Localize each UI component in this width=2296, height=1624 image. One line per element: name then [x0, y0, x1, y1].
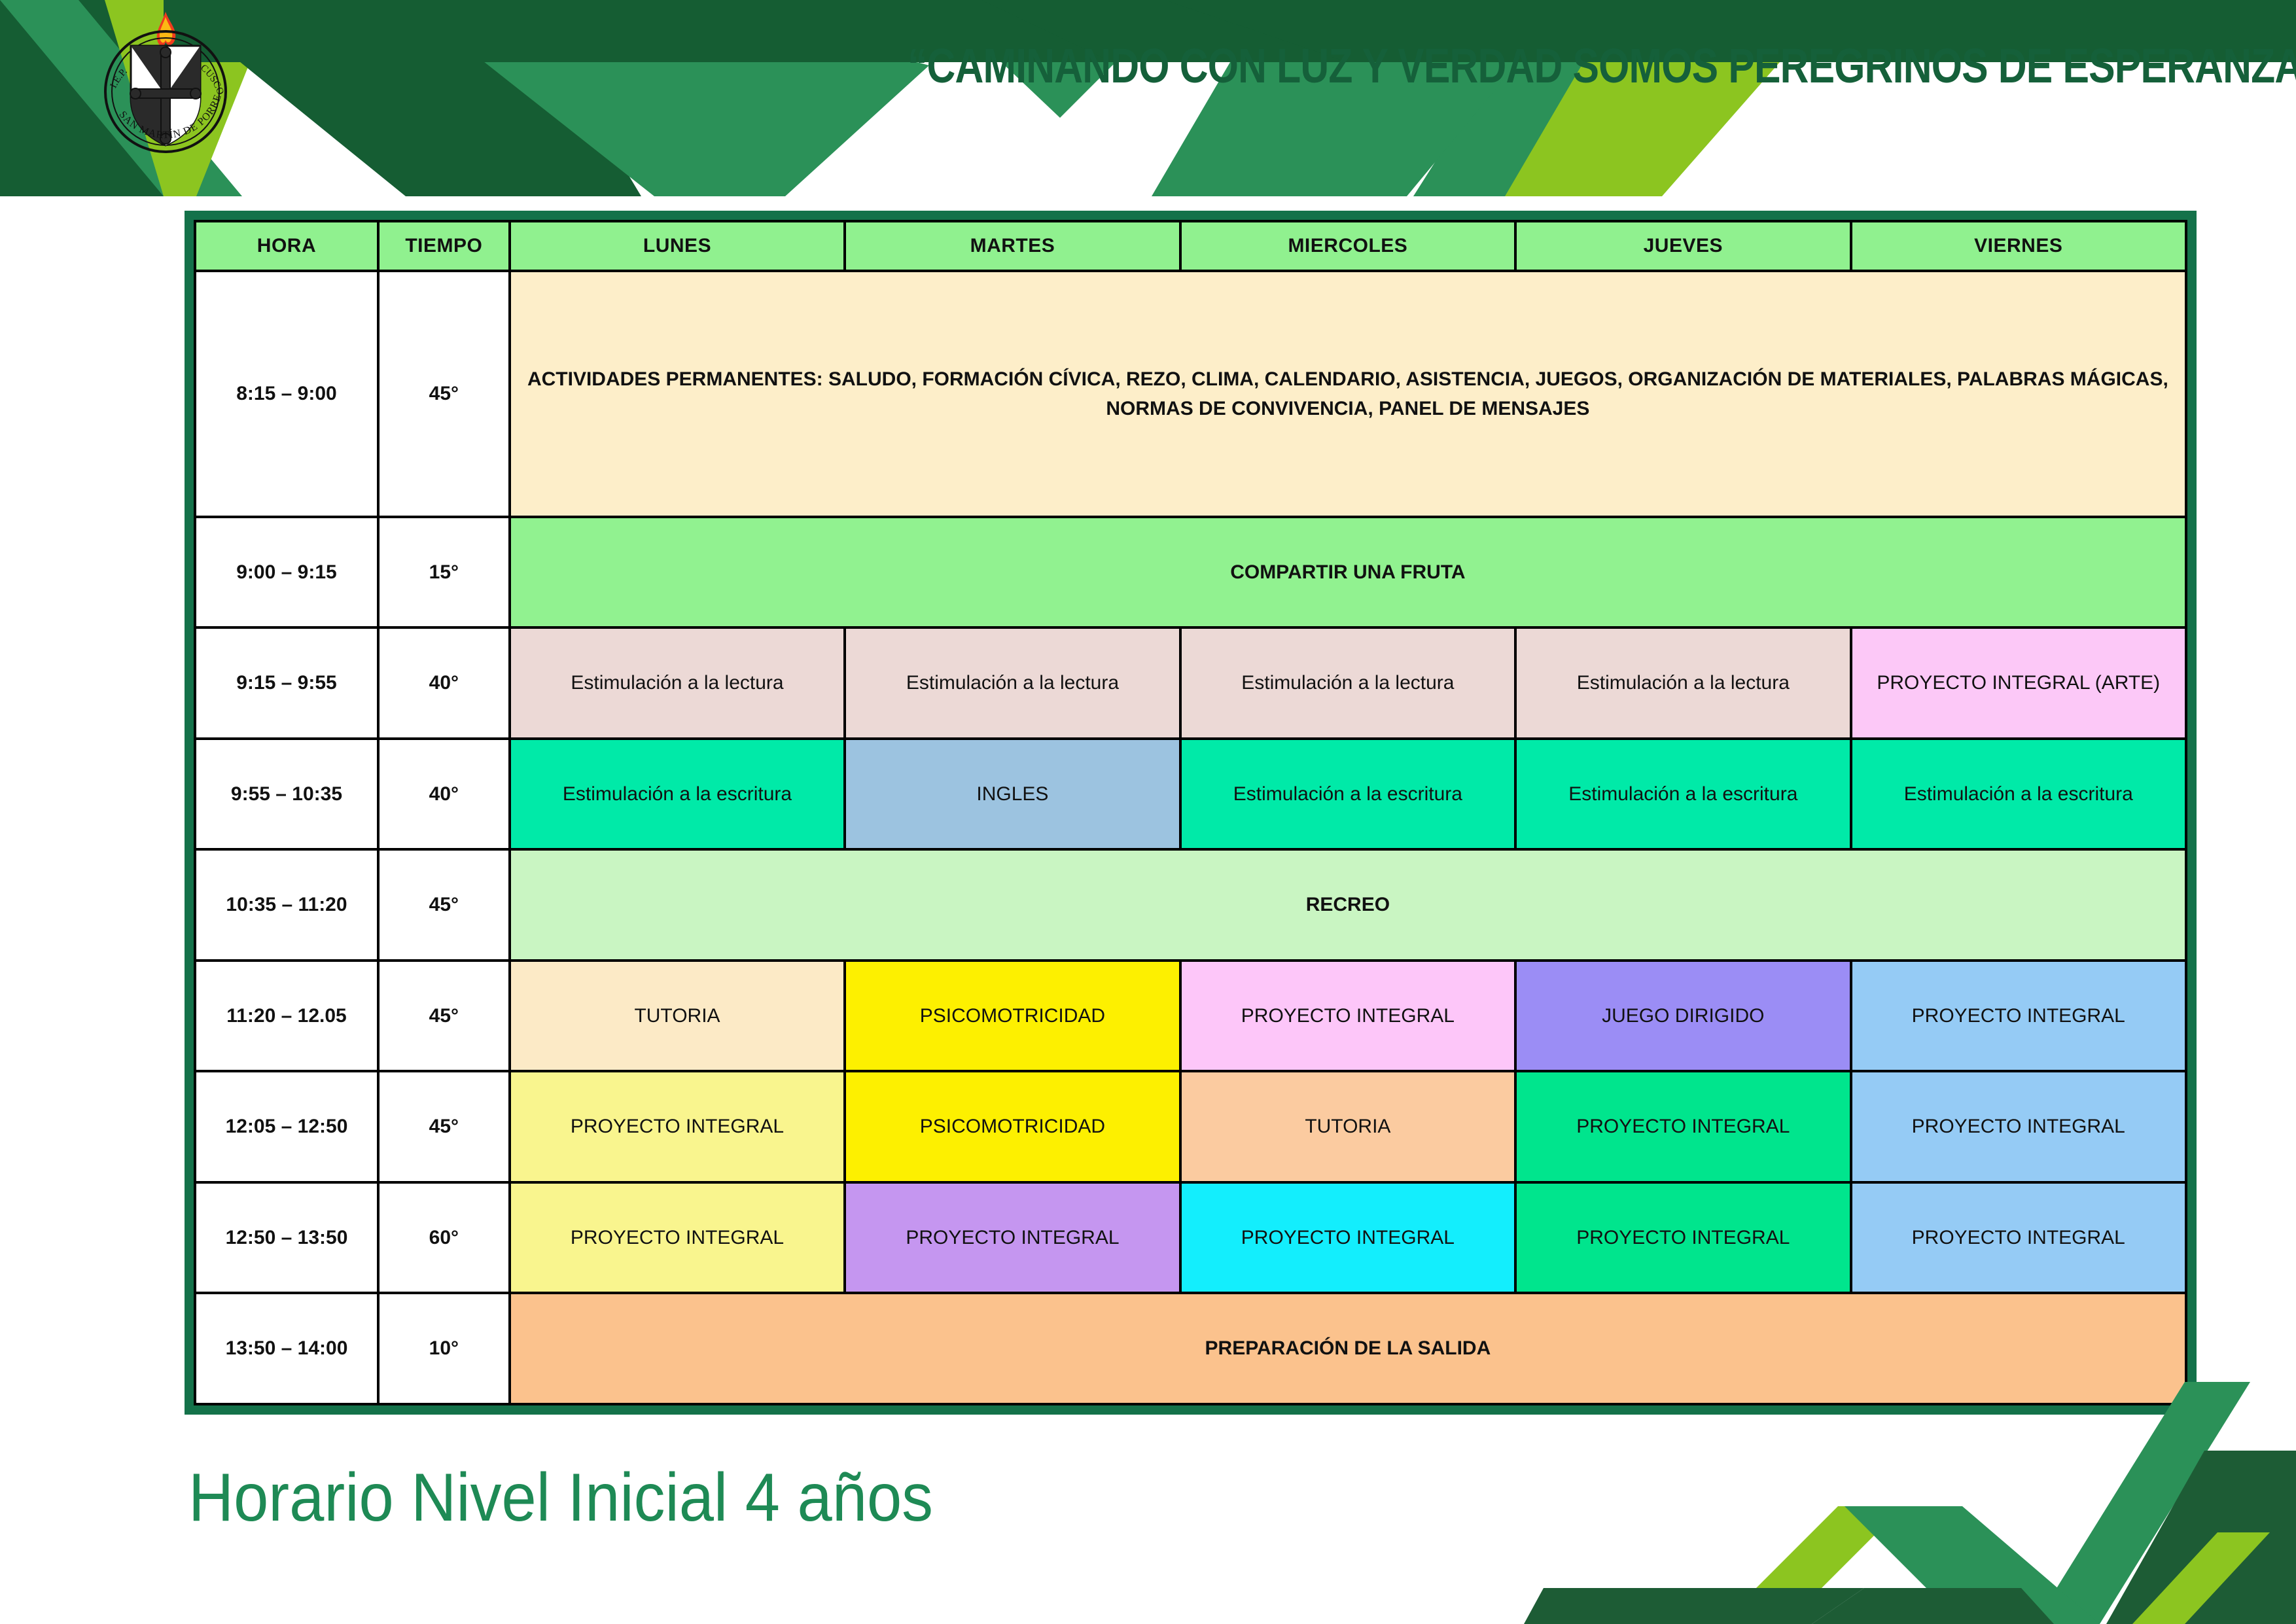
cell-tiempo: 45° — [378, 271, 510, 517]
table-row: 9:55 – 10:3540°Estimulación a la escritu… — [195, 739, 2186, 850]
table-row: 9:15 – 9:5540°Estimulación a la lecturaE… — [195, 627, 2186, 739]
school-logo: I.E.P. CUSCO SAN MARTÍN DE PORRES — [79, 7, 255, 170]
page-title: Horario Nivel Inicial 4 años — [188, 1459, 933, 1537]
cell-hora: 9:55 – 10:35 — [195, 739, 378, 850]
table-row: 12:05 – 12:5045°PROYECTO INTEGRALPSICOMO… — [195, 1071, 2186, 1182]
column-header-hora: HORA — [195, 221, 378, 271]
deco-bar-dark — [1524, 1588, 1864, 1624]
cell-hora: 9:15 – 9:55 — [195, 627, 378, 739]
table-row: 10:35 – 11:2045°RECREO — [195, 849, 2186, 961]
cell-activity: PROYECTO INTEGRAL — [1851, 1071, 2186, 1182]
cell-hora: 10:35 – 11:20 — [195, 849, 378, 961]
column-header-miercoles: MIERCOLES — [1180, 221, 1515, 271]
cell-activity: PROYECTO INTEGRAL — [845, 1182, 1180, 1294]
cell-activity: INGLES — [845, 739, 1180, 850]
cell-activity: Estimulación a la lectura — [845, 627, 1180, 739]
cell-activity: PSICOMOTRICIDAD — [845, 961, 1180, 1072]
top-decoration-banner — [0, 0, 2296, 196]
cell-activity: Estimulación a la escritura — [1515, 739, 1850, 850]
table-header-row: HORATIEMPOLUNESMARTESMIERCOLESJUEVESVIER… — [195, 221, 2186, 271]
cell-activity: PROYECTO INTEGRAL — [1515, 1182, 1850, 1294]
cell-hora: 13:50 – 14:00 — [195, 1293, 378, 1404]
column-header-jueves: JUEVES — [1515, 221, 1850, 271]
cell-activity: Estimulación a la lectura — [1515, 627, 1850, 739]
table-row: 12:50 – 13:5060°PROYECTO INTEGRALPROYECT… — [195, 1182, 2186, 1294]
bottom-decoration-graphic — [1445, 1349, 2296, 1624]
cell-activity: PROYECTO INTEGRAL — [1180, 961, 1515, 1072]
cell-activity: Estimulación a la lectura — [510, 627, 845, 739]
cell-activity: PROYECTO INTEGRAL — [1515, 1071, 1850, 1182]
schedule-table-container: HORATIEMPOLUNESMARTESMIERCOLESJUEVESVIER… — [185, 211, 2197, 1415]
cell-activity: PROYECTO INTEGRAL — [510, 1071, 845, 1182]
cell-activity: PROYECTO INTEGRAL (ARTE) — [1851, 627, 2186, 739]
cell-activity: Estimulación a la escritura — [1180, 739, 1515, 850]
logo-text-iep: I.E.P. — [109, 66, 130, 90]
cell-tiempo: 15° — [378, 517, 510, 628]
cell-hora: 12:05 – 12:50 — [195, 1071, 378, 1182]
cell-tiempo: 45° — [378, 1071, 510, 1182]
header-motto: “CAMINANDO CON LUZ Y VERDAD SOMOS PEREGR… — [908, 38, 2142, 94]
cell-hora: 11:20 – 12.05 — [195, 961, 378, 1072]
cell-activity-span: COMPARTIR UNA FRUTA — [510, 517, 2186, 628]
cell-hora: 8:15 – 9:00 — [195, 271, 378, 517]
cell-activity: JUEGO DIRIGIDO — [1515, 961, 1850, 1072]
cell-tiempo: 40° — [378, 739, 510, 850]
column-header-viernes: VIERNES — [1851, 221, 2186, 271]
cell-activity-span: RECREO — [510, 849, 2186, 961]
cell-tiempo: 40° — [378, 627, 510, 739]
cell-activity: TUTORIA — [510, 961, 845, 1072]
cell-tiempo: 45° — [378, 849, 510, 961]
schedule-table: HORATIEMPOLUNESMARTESMIERCOLESJUEVESVIER… — [194, 220, 2187, 1405]
column-header-martes: MARTES — [845, 221, 1180, 271]
cell-activity: PROYECTO INTEGRAL — [1851, 1182, 2186, 1294]
column-header-tiempo: TIEMPO — [378, 221, 510, 271]
cell-activity: Estimulación a la lectura — [1180, 627, 1515, 739]
cell-activity: PROYECTO INTEGRAL — [1180, 1182, 1515, 1294]
cell-activity: TUTORIA — [1180, 1071, 1515, 1182]
cell-tiempo: 60° — [378, 1182, 510, 1294]
cell-activity: PSICOMOTRICIDAD — [845, 1071, 1180, 1182]
cell-activity: PROYECTO INTEGRAL — [1851, 961, 2186, 1072]
table-row: 9:00 – 9:1515°COMPARTIR UNA FRUTA — [195, 517, 2186, 628]
cell-tiempo: 45° — [378, 961, 510, 1072]
cell-hora: 9:00 – 9:15 — [195, 517, 378, 628]
table-row: 11:20 – 12.0545°TUTORIAPSICOMOTRICIDADPR… — [195, 961, 2186, 1072]
cell-activity: PROYECTO INTEGRAL — [510, 1182, 845, 1294]
cell-activity: Estimulación a la escritura — [1851, 739, 2186, 850]
cell-activity-span: ACTIVIDADES PERMANENTES: SALUDO, FORMACI… — [510, 271, 2186, 517]
table-row: 8:15 – 9:0045°ACTIVIDADES PERMANENTES: S… — [195, 271, 2186, 517]
column-header-lunes: LUNES — [510, 221, 845, 271]
cell-tiempo: 10° — [378, 1293, 510, 1404]
cell-hora: 12:50 – 13:50 — [195, 1182, 378, 1294]
cell-activity: Estimulación a la escritura — [510, 739, 845, 850]
